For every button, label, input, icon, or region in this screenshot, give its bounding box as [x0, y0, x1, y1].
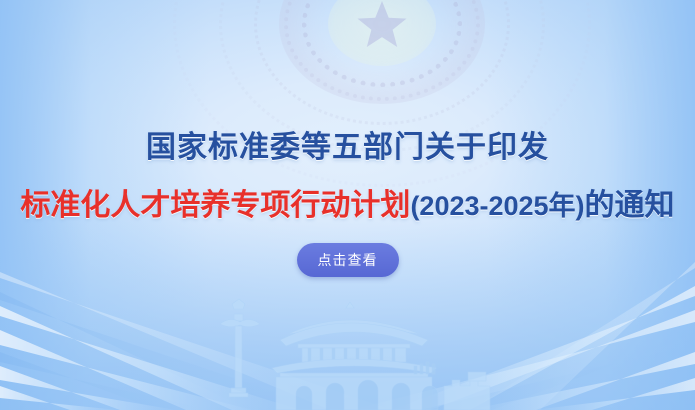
notice-banner: 国家标准委等五部门关于印发 标准化人才培养专项行动计划(2023-2025年)的… — [0, 0, 695, 410]
page-title-highlight: 标准化人才培养专项行动计划 — [20, 189, 410, 222]
page-title-tail: 的通知 — [585, 189, 675, 222]
page-title-line-1: 国家标准委等五部门关于印发 — [0, 122, 695, 166]
view-detail-button[interactable]: 点击查看 — [297, 243, 399, 277]
page-title-line-2: 标准化人才培养专项行动计划(2023-2025年)的通知 — [0, 180, 695, 224]
page-title-years: (2023-2025年) — [410, 191, 584, 221]
banner-content: 国家标准委等五部门关于印发 标准化人才培养专项行动计划(2023-2025年)的… — [0, 0, 695, 410]
cta-container: 点击查看 — [0, 243, 695, 277]
